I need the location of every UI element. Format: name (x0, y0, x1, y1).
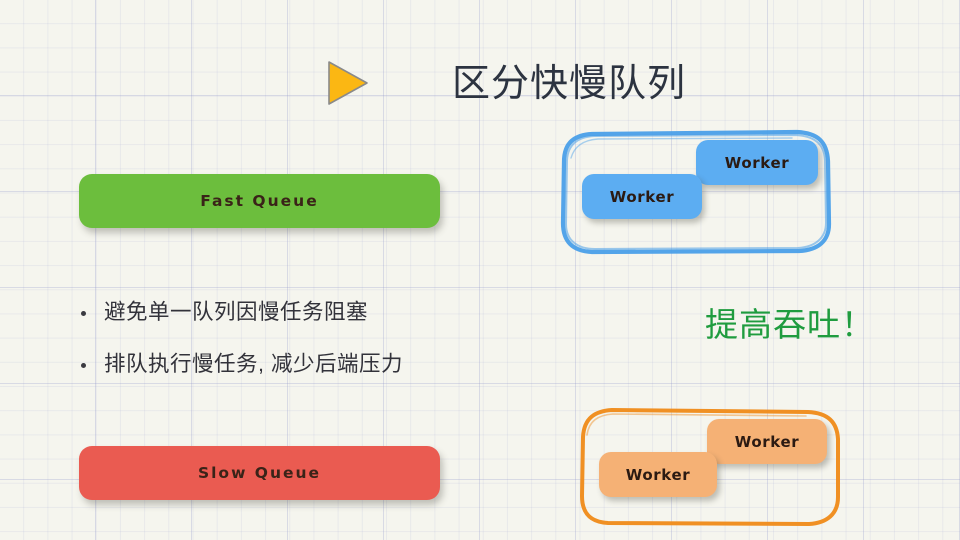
fast-queue-label: Fast Queue (200, 192, 318, 210)
list-item: 排队执行慢任务, 减少后端压力 (78, 349, 478, 401)
worker-box[interactable]: Worker (696, 140, 818, 185)
bullet-text: 排队执行慢任务, 减少后端压力 (104, 352, 403, 376)
worker-box[interactable]: Worker (582, 174, 702, 219)
list-item: 避免单一队列因慢任务阻塞 (78, 297, 478, 349)
slow-queue-bar[interactable]: Slow Queue (79, 446, 440, 500)
worker-label: Worker (735, 433, 799, 451)
bullet-dot-icon (81, 311, 86, 316)
slide-canvas: 区分快慢队列 Fast Queue 避免单一队列因慢任务阻塞 排队执行慢任务, … (0, 0, 960, 540)
bullet-list: 避免单一队列因慢任务阻塞 排队执行慢任务, 减少后端压力 (78, 297, 478, 401)
bullet-text: 避免单一队列因慢任务阻塞 (104, 300, 368, 324)
worker-label: Worker (725, 154, 789, 172)
page-title: 区分快慢队列 (452, 60, 686, 108)
bullet-dot-icon (81, 363, 86, 368)
fast-queue-bar[interactable]: Fast Queue (79, 174, 440, 228)
fast-worker-group: Worker Worker (556, 128, 834, 256)
title-row: 区分快慢队列 (0, 28, 960, 94)
throughput-highlight-text: 提高吞吐！ (705, 303, 875, 347)
worker-label: Worker (610, 188, 674, 206)
worker-box[interactable]: Worker (707, 419, 827, 464)
slow-worker-group: Worker Worker (577, 405, 843, 529)
slow-queue-label: Slow Queue (198, 464, 321, 482)
worker-box[interactable]: Worker (599, 452, 717, 497)
worker-label: Worker (626, 466, 690, 484)
play-triangle-icon (326, 60, 370, 106)
